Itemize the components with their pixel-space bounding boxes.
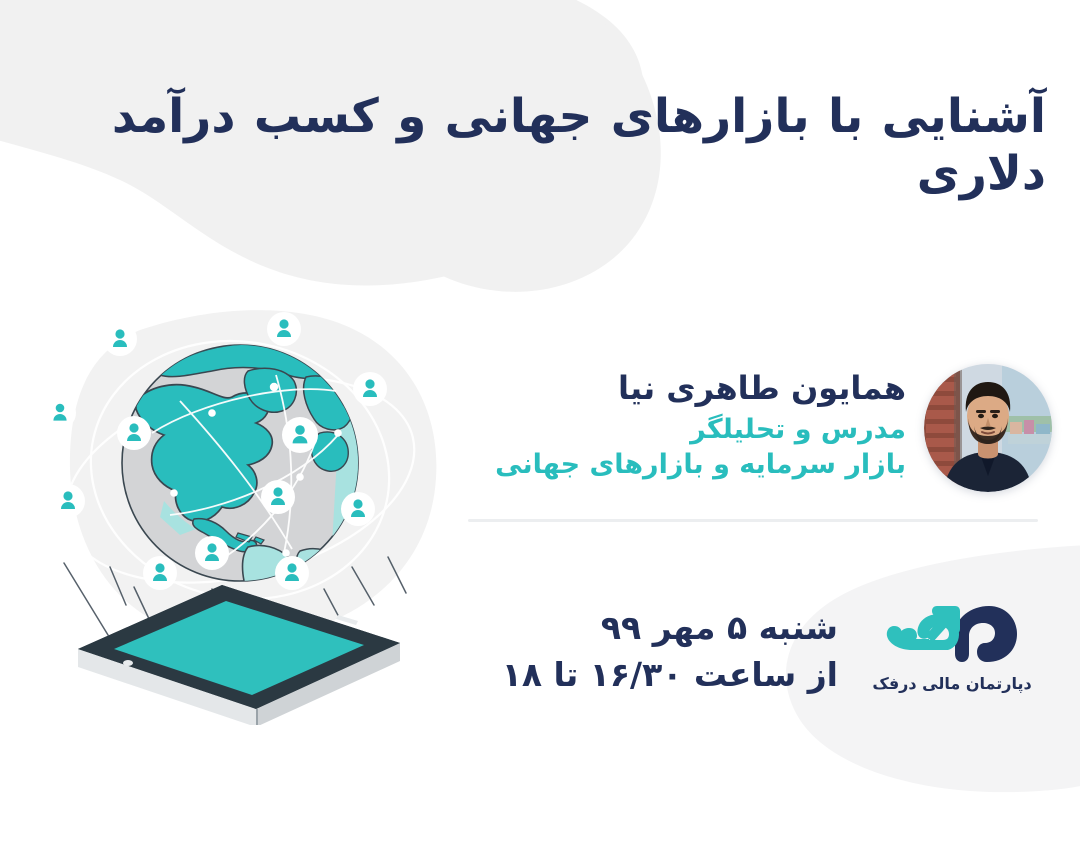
darfak-logo-icon: [877, 592, 1027, 670]
page-title: آشنایی با بازارهای جهانی و کسب درآمد دلا…: [34, 88, 1046, 203]
speaker-role-line-2: بازار سرمایه و بازارهای جهانی: [436, 447, 906, 482]
speaker-text: همایون طاهری نیا مدرس و تحلیلگر بازار سر…: [432, 352, 906, 482]
schedule-block: شنبه ۵ مهر ۹۹ از ساعت ۱۶/۳۰ تا ۱۸: [238, 605, 838, 699]
section-divider: [468, 519, 1038, 522]
brand-caption: دپارتمان مالی درفک: [852, 674, 1052, 693]
webinar-poster: آشنایی با بازارهای جهانی و کسب درآمد دلا…: [0, 0, 1080, 853]
logo-letter-dal: [955, 606, 1017, 662]
speaker-block: همایون طاهری نیا مدرس و تحلیلگر بازار سر…: [432, 352, 1052, 527]
speaker-role-line-1: مدرس و تحلیلگر: [436, 412, 906, 447]
brand-logo-block: دپارتمان مالی درفک: [852, 592, 1052, 693]
speaker-name: همایون طاهری نیا: [436, 368, 906, 408]
speaker-portrait: [924, 364, 1052, 492]
event-time: از ساعت ۱۶/۳۰ تا ۱۸: [238, 652, 838, 699]
event-date: شنبه ۵ مهر ۹۹: [238, 605, 838, 652]
avatar: [924, 364, 1052, 492]
title-container: آشنایی با بازارهای جهانی و کسب درآمد دلا…: [34, 88, 1046, 203]
